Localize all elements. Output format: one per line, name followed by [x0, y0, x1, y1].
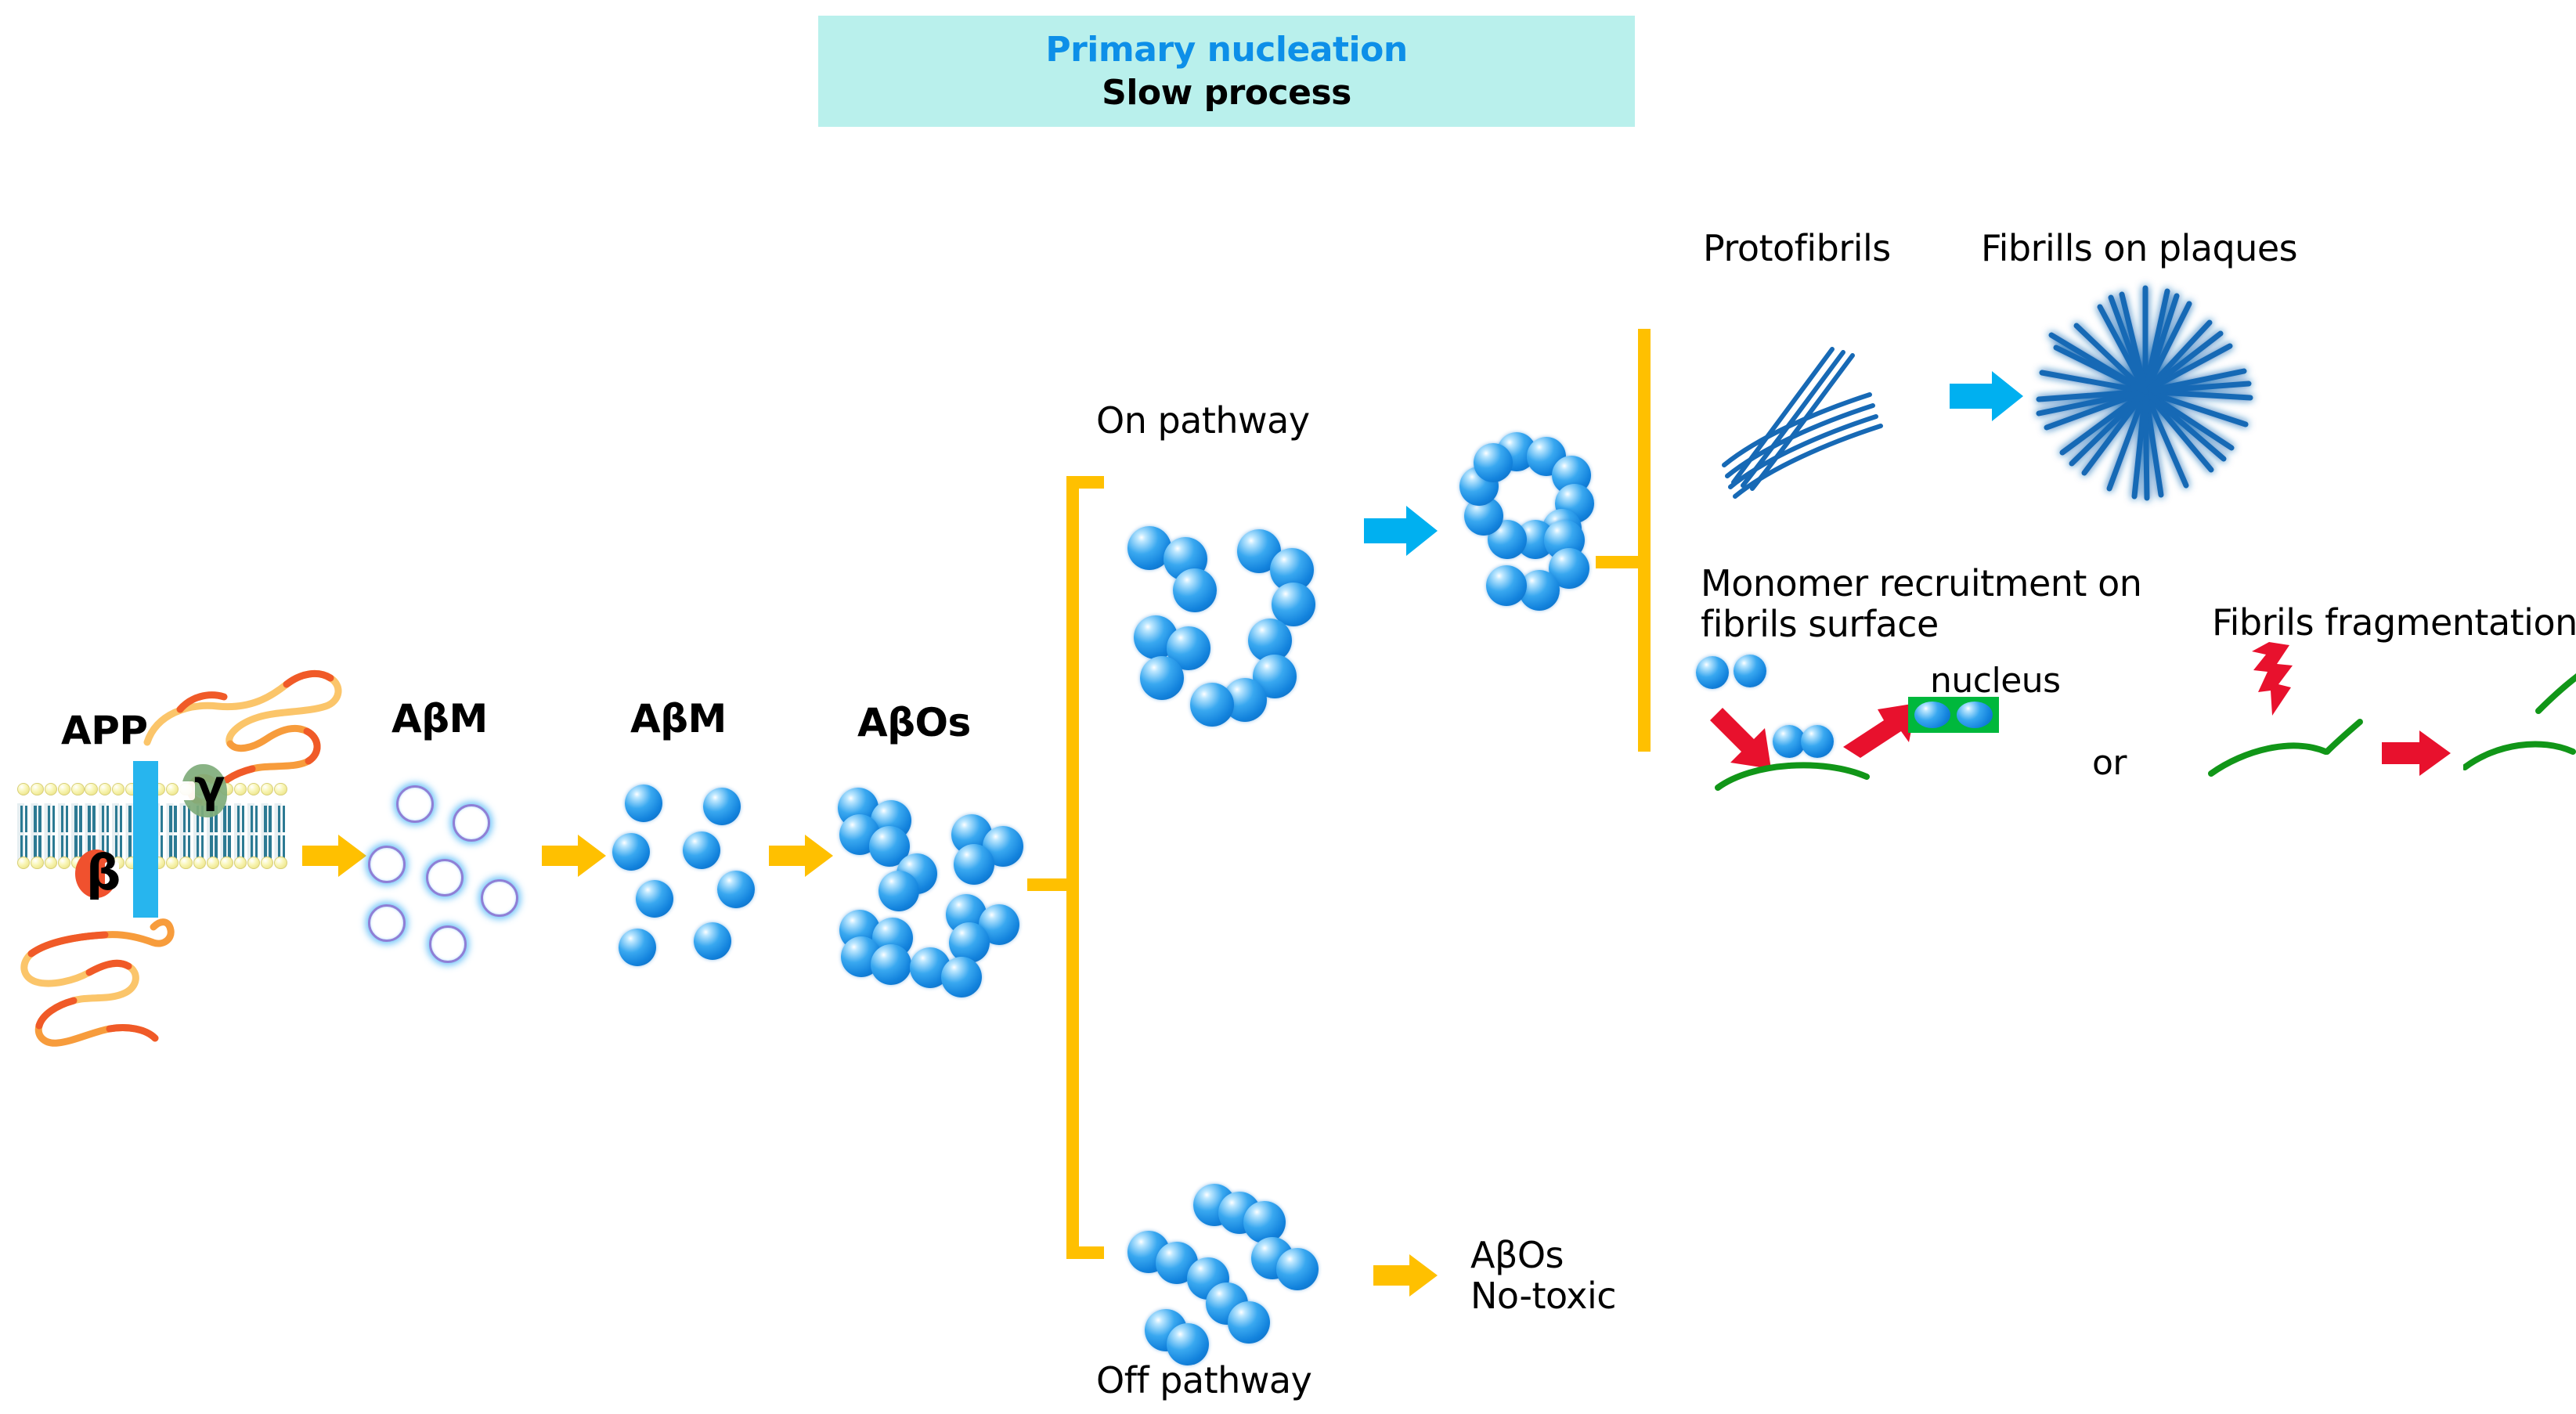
monomer-sphere [636, 880, 673, 918]
nucleus-monomer [1957, 702, 1993, 728]
lipid-head-icon [17, 783, 30, 795]
fibrils-on-plaques-label: Fibrills on plaques [1981, 229, 2297, 269]
fragmented-fibril-pieces-icon [2463, 673, 2576, 791]
fibrils-fragmentation-label: Fibrils fragmentation [2212, 603, 2576, 644]
lipid-head-icon [234, 783, 247, 795]
lipid-head-icon [58, 857, 70, 869]
lipid-tail-pair-icon [180, 803, 193, 864]
monomer-sphere [683, 831, 720, 869]
abm-label-1: AβM [391, 697, 488, 741]
monomer-circle [368, 846, 406, 883]
lipid-head-icon [261, 783, 273, 795]
monomer-sphere [612, 833, 650, 871]
lipid-head-icon [166, 783, 179, 795]
monomer-sphere [703, 788, 741, 825]
bound-monomer-sphere [1801, 725, 1834, 758]
bracket-spine [1066, 476, 1079, 1259]
monomer-circle [426, 859, 464, 896]
app-label: APP [61, 709, 148, 752]
fibrils-plaque-icon [2028, 274, 2263, 509]
app-intracellular-ribbon-icon [8, 908, 196, 1057]
lipid-head-icon [193, 857, 206, 869]
free-monomer-sphere [1696, 656, 1729, 689]
nucleus-box [1908, 697, 1999, 733]
lipid-head-icon [247, 857, 260, 869]
lipid-head-icon [58, 783, 70, 795]
lipid-tail-pair-icon [275, 803, 288, 864]
lipid-head-icon [207, 857, 219, 869]
lipid-head-icon [31, 857, 43, 869]
protofibrils-icon [1707, 298, 1942, 501]
yellow-arrow-1-icon [301, 831, 368, 880]
lipid-head-icon [17, 857, 30, 869]
abos-label: AβOs [857, 701, 971, 745]
lipid-head-icon [71, 783, 84, 795]
primary-nucleation-banner: Primary nucleation Slow process [818, 16, 1635, 127]
banner-title: Primary nucleation [1045, 30, 1407, 70]
cyan-arrow-2-icon [1948, 368, 2025, 424]
lipid-head-icon [85, 783, 97, 795]
monomer-circle [453, 804, 490, 842]
lipid-head-icon [220, 857, 233, 869]
oligomer-sphere [1173, 568, 1217, 612]
lipid-head-icon [179, 857, 192, 869]
bracket-bottom-tick [1066, 1246, 1104, 1259]
lipid-head-icon [31, 783, 43, 795]
yellow-arrow-4-icon [1372, 1251, 1439, 1300]
banner-subtitle: Slow process [1102, 73, 1351, 113]
lipid-head-icon [45, 857, 57, 869]
oligomer-sphere [1243, 1201, 1286, 1243]
oligomer-sphere [879, 871, 919, 911]
oligomer-sphere [1140, 656, 1184, 700]
oligomer-sphere [1228, 1301, 1270, 1344]
lipid-tail-pair-icon [166, 803, 179, 864]
ring-sphere [1474, 443, 1513, 482]
nucleus-label: nucleus [1930, 662, 2061, 700]
abos-nontoxic-label: AβOs No-toxic [1470, 1235, 1616, 1316]
oligomer-sphere [871, 944, 911, 985]
lipid-tail-pair-icon [261, 803, 274, 864]
gamma-secretase-label: γ [194, 761, 225, 812]
on-pathway-label: On pathway [1096, 401, 1310, 442]
yellow-arrow-2-icon [540, 831, 608, 880]
lipid-head-icon [274, 857, 287, 869]
transmembrane-helix [133, 761, 158, 918]
lipid-head-icon [261, 857, 273, 869]
lightning-bolt-icon [2247, 640, 2325, 734]
monomer-circle [396, 785, 434, 823]
monomer-circle [481, 879, 518, 917]
bracket-spine [1638, 329, 1651, 752]
monomer-sphere [619, 929, 656, 966]
monomer-recruitment-label: Monomer recruitment on fibrils surface [1701, 564, 2141, 644]
lipid-head-icon [45, 783, 57, 795]
bracket-top-tick [1066, 476, 1104, 489]
monomer-circle [429, 925, 467, 963]
abm-label-2: AβM [630, 697, 727, 741]
lipid-tail-pair-icon [45, 803, 58, 864]
cyan-arrow-1-icon [1362, 503, 1439, 559]
monomer-sphere [717, 871, 755, 908]
lipid-tail-pair-icon [234, 803, 247, 864]
lipid-tail-pair-icon [58, 803, 71, 864]
lipid-tail-pair-icon [17, 803, 31, 864]
lipid-head-icon [247, 783, 260, 795]
oligomer-sphere [1190, 683, 1234, 727]
lipid-head-icon [166, 857, 179, 869]
oligomer-sphere [1486, 565, 1527, 606]
beta-secretase-label: β [86, 846, 121, 900]
oligomer-sphere [954, 844, 994, 885]
lipid-tail-pair-icon [247, 803, 261, 864]
yellow-arrow-3-icon [767, 831, 835, 880]
or-label: or [2092, 744, 2127, 782]
lipid-tail-pair-icon [31, 803, 44, 864]
off-pathway-label: Off pathway [1096, 1361, 1311, 1401]
oligomer-sphere [941, 957, 982, 997]
free-monomer-sphere [1734, 655, 1766, 687]
lipid-head-icon [274, 783, 287, 795]
lipid-head-icon [112, 783, 124, 795]
monomer-sphere [625, 785, 662, 822]
nucleus-monomer [1914, 702, 1950, 728]
lipid-head-icon [99, 783, 111, 795]
lipid-head-icon [234, 857, 247, 869]
monomer-sphere [694, 922, 731, 960]
monomer-circle [368, 904, 406, 942]
red-arrow-right-icon [2380, 728, 2452, 778]
oligomer-sphere [1276, 1248, 1319, 1290]
protofibrils-label: Protofibrils [1703, 229, 1891, 269]
